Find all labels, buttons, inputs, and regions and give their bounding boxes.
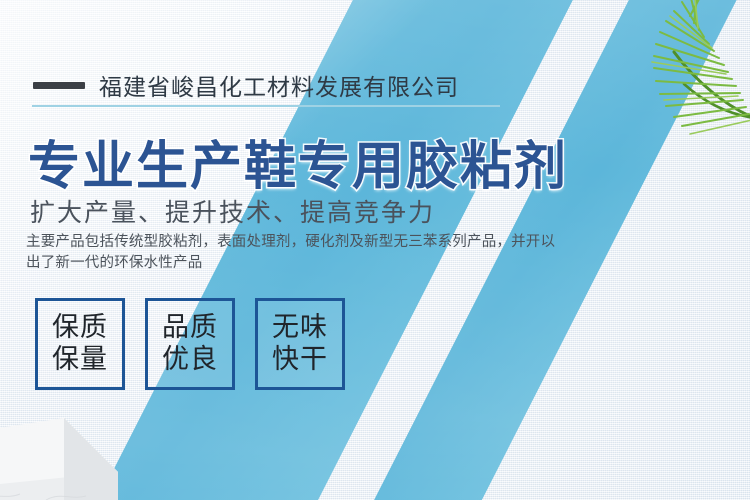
feature-badge-1: 保质 保量 [35,298,125,390]
feature-badge-1-line1: 保质 [52,312,108,344]
company-row: 福建省峻昌化工材料发展有限公司 [33,68,459,102]
headline: 专业生产鞋专用胶粘剂 [28,124,568,199]
feature-badge-2: 品质 优良 [145,298,235,390]
dash-mark-icon [33,82,85,89]
feature-badge-3-line1: 无味 [272,312,328,344]
feature-badges: 保质 保量 品质 优良 无味 快干 [35,298,345,390]
company-name: 福建省峻昌化工材料发展有限公司 [99,68,459,102]
description-line-2: 出了新一代的环保水性产品 [26,253,526,274]
promo-banner: 福建省峻昌化工材料发展有限公司 专业生产鞋专用胶粘剂 扩大产量、提升技术、提高竞… [0,0,750,500]
divider-rule [32,105,500,107]
description-paragraph: 主要产品包括传统型胶粘剂，表面处理剂，硬化剂及新型无三苯系列产品，并开以 出了新… [26,232,526,274]
feature-badge-2-line2: 优良 [162,344,218,376]
feature-badge-3: 无味 快干 [255,298,345,390]
feature-badge-2-line1: 品质 [162,312,218,344]
subheadline: 扩大产量、提升技术、提高竞争力 [30,193,435,229]
feature-badge-1-line2: 保量 [52,344,108,376]
feature-badge-3-line2: 快干 [272,344,328,376]
description-line-1: 主要产品包括传统型胶粘剂，表面处理剂，硬化剂及新型无三苯系列产品，并开以 [26,232,526,253]
text-content: 福建省峻昌化工材料发展有限公司 专业生产鞋专用胶粘剂 扩大产量、提升技术、提高竞… [0,0,620,500]
